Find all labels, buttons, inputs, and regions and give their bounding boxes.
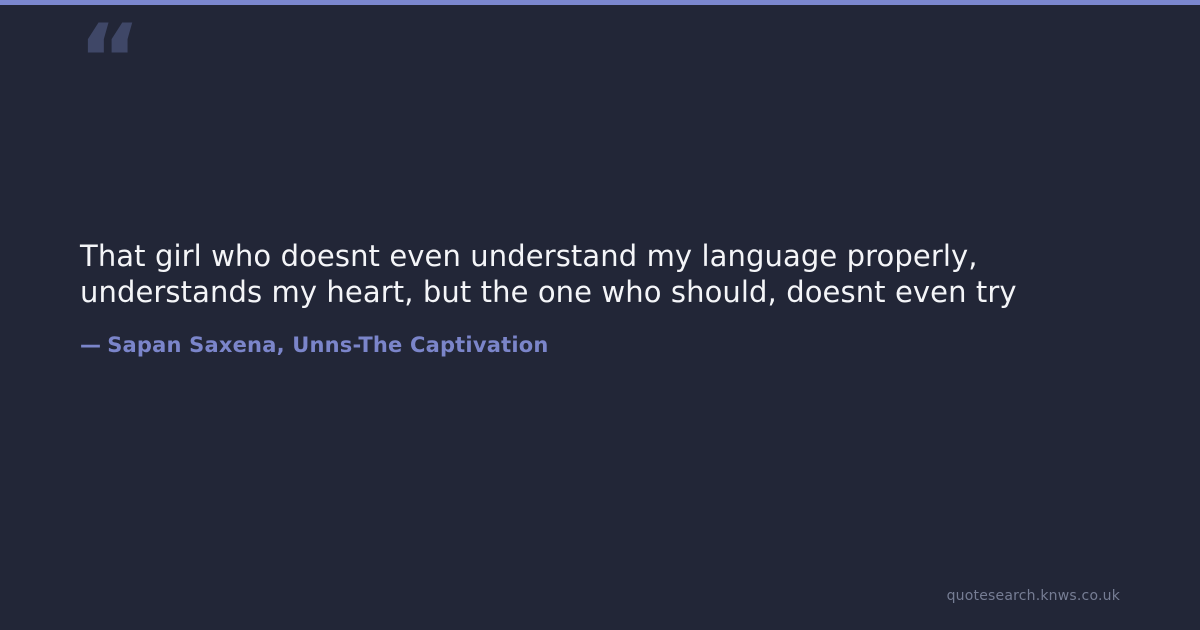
quote-attribution: —Sapan Saxena, Unns-The Captivation [80,332,1120,358]
open-quote-icon: “ [78,12,139,108]
top-accent-bar [0,0,1200,5]
quote-text: That girl who doesnt even understand my … [80,238,1120,310]
attribution-dash: — [80,333,101,357]
quote-content: That girl who doesnt even understand my … [80,238,1120,358]
site-watermark: quotesearch.knws.co.uk [947,587,1120,605]
quote-card: “ That girl who doesnt even understand m… [0,0,1200,630]
attribution-text: Sapan Saxena, Unns-The Captivation [107,333,548,357]
